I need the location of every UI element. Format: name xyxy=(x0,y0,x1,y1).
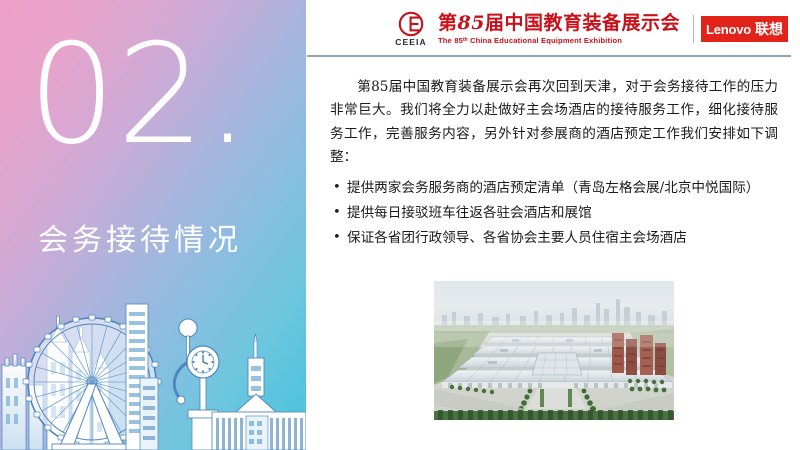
tianjin-skyline-icon xyxy=(0,290,306,450)
header-divider-rule xyxy=(307,55,791,57)
exhibition-title-block: 第85届中国教育装备展示会 The 85ᵗʰ China Educational… xyxy=(438,13,686,45)
title-prefix: 第 xyxy=(438,12,458,34)
venue-aerial-photo xyxy=(434,281,674,420)
slide-canvas: 02. 会务接待情况 xyxy=(0,0,800,450)
list-item: 提供每日接驳班车往返各驻会酒店和展馆 xyxy=(330,202,778,225)
list-item: 提供两家会务服务商的酒店预定清单（青岛左格会展/北京中悦国际） xyxy=(330,177,778,200)
lenovo-sponsor-logo: Lenovo 联想 xyxy=(701,16,788,42)
title-edition-number: 85 xyxy=(458,12,485,34)
ceeia-e-mark-icon xyxy=(398,11,424,37)
ceeia-acronym: CEEIA xyxy=(395,37,426,47)
header-logo-lockup: CEEIA 第85届中国教育装备展示会 The 85ᵗʰ China Educa… xyxy=(391,8,788,50)
section-number: 02. xyxy=(28,26,250,164)
ceeia-logo: CEEIA xyxy=(391,11,431,47)
lead-paragraph: 第85届中国教育装备展示会再次回到天津，对于会务接待工作的压力非常巨大。我们将全… xyxy=(330,76,778,170)
lenovo-cn-wordmark: 联想 xyxy=(755,19,783,39)
venue-photo-artwork xyxy=(434,281,674,420)
logo-divider xyxy=(693,15,694,43)
list-item: 保证各省团行政领导、各省协会主要人员住宿主会场酒店 xyxy=(330,227,778,250)
section-title: 会务接待情况 xyxy=(38,215,242,259)
exhibition-title-en: The 85ᵗʰ China Educational Equipment Exh… xyxy=(438,36,680,45)
lenovo-latin-wordmark: Lenovo xyxy=(706,22,751,37)
title-suffix: 届中国教育装备展示会 xyxy=(485,12,680,34)
content-area: 第85届中国教育装备展示会再次回到天津，对于会务接待工作的压力非常巨大。我们将全… xyxy=(330,76,778,253)
bullet-list: 提供两家会务服务商的酒店预定清单（青岛左格会展/北京中悦国际） 提供每日接驳班车… xyxy=(330,177,778,251)
section-cover-panel: 02. 会务接待情况 xyxy=(0,0,306,450)
exhibition-title-cn: 第85届中国教育装备展示会 xyxy=(438,13,680,34)
